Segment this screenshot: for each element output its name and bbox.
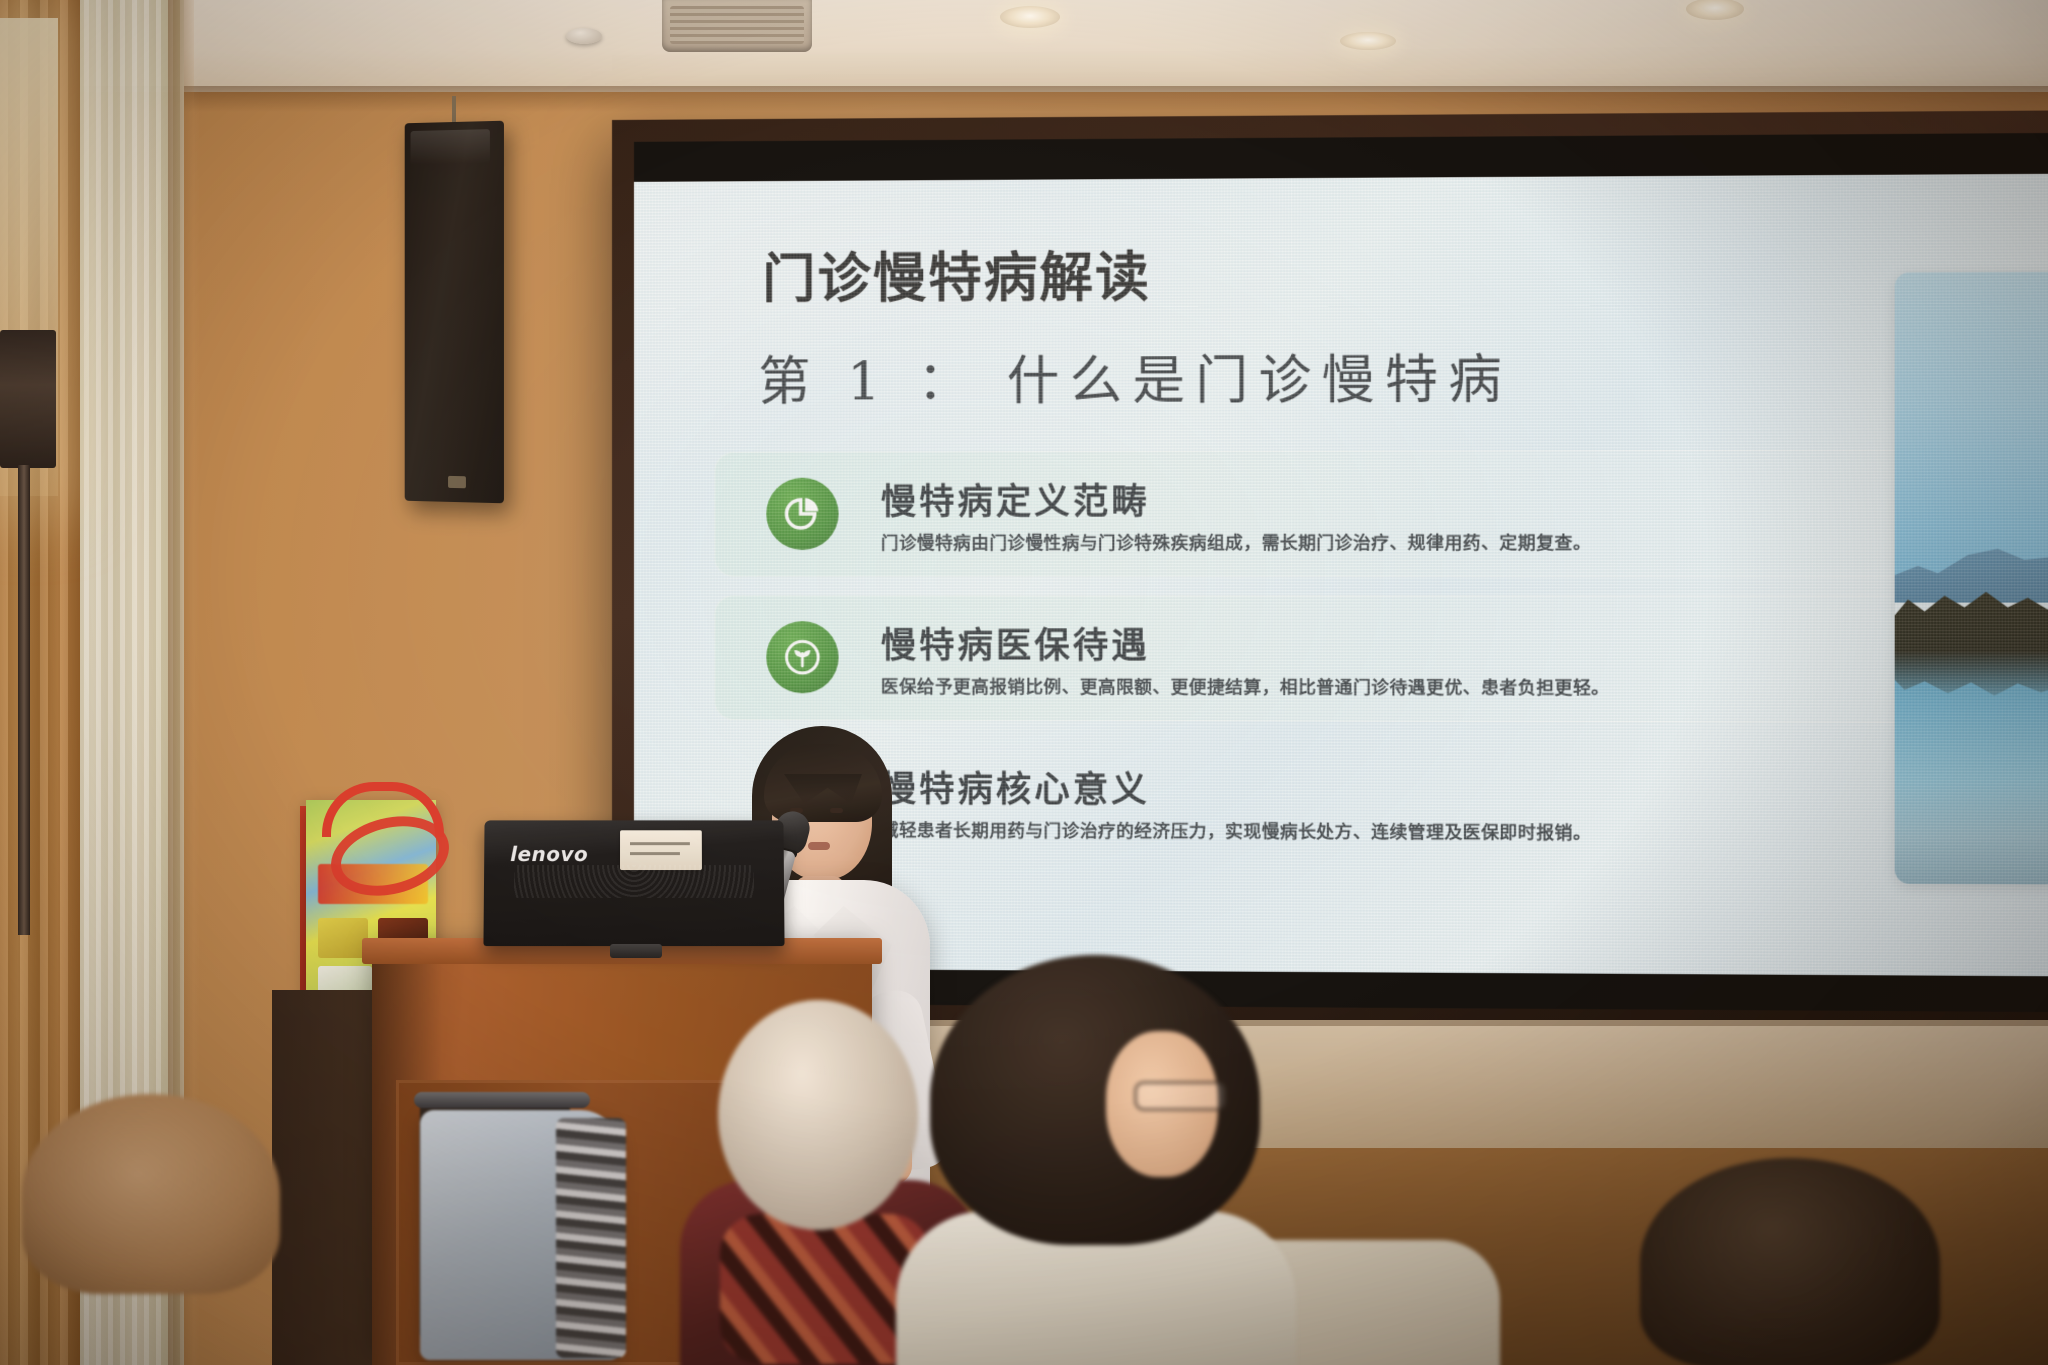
slide-card-title: 慢特病定义范畴 bbox=[881, 473, 1150, 525]
monitor-stand bbox=[610, 944, 662, 958]
shopping-bag-photo bbox=[318, 918, 368, 958]
ceiling-downlight bbox=[1000, 6, 1060, 28]
photo-sky bbox=[1895, 272, 2048, 603]
slide-card-title: 慢特病医保待遇 bbox=[881, 617, 1150, 669]
wall-speaker bbox=[405, 121, 504, 504]
slide-card-description: 减轻患者长期用药与门诊治疗的经济压力，实现慢病长处方、连续管理及医保即时报销。 bbox=[881, 817, 1591, 845]
slide-card-description: 医保给予更高报销比例、更高限额、更便捷结算，相比普通门诊待遇更优、患者负担更轻。 bbox=[881, 673, 1610, 699]
eyeglasses-icon bbox=[1134, 1081, 1226, 1111]
lenovo-monitor: lenovo bbox=[483, 820, 784, 946]
speaker-cable bbox=[452, 96, 456, 124]
ceiling-downlight bbox=[1340, 32, 1396, 50]
presenter-mouth bbox=[808, 842, 830, 850]
ceiling-shadow bbox=[0, 86, 2048, 112]
smoke-detector-icon bbox=[566, 28, 602, 44]
pie-chart-icon bbox=[766, 478, 838, 550]
lenovo-logo: lenovo bbox=[510, 842, 588, 866]
audience-head bbox=[718, 1000, 918, 1230]
slide-title: 门诊慢特病解读 bbox=[762, 235, 1151, 313]
audience-member bbox=[930, 955, 1260, 1365]
sprout-leaf-icon bbox=[766, 621, 838, 693]
chair-rail bbox=[414, 1092, 590, 1108]
audience-hair bbox=[1640, 1158, 1940, 1365]
wall-sconce-fixture bbox=[0, 330, 56, 468]
slide-card: 慢特病定义范畴 门诊慢特病由门诊慢性病与门诊特殊疾病组成，需长期门诊治疗、规律用… bbox=[714, 450, 1943, 577]
asset-tag-label bbox=[620, 830, 702, 870]
ceiling-air-vent bbox=[662, 0, 812, 52]
slide-card-description: 门诊慢特病由门诊慢性病与门诊特殊疾病组成，需长期门诊治疗、规律用药、定期复查。 bbox=[881, 529, 1591, 555]
audience-member bbox=[16, 1100, 286, 1365]
striped-fabric bbox=[556, 1118, 626, 1358]
audience-hair bbox=[22, 1094, 280, 1294]
presenter-eye bbox=[830, 808, 843, 813]
sconce-post bbox=[18, 465, 30, 935]
photo-water bbox=[1895, 651, 2048, 884]
slide-subtitle: 第 1 ： 什么是门诊慢特病 bbox=[758, 337, 1512, 415]
landscape-lake-mountains-photo bbox=[1895, 272, 2048, 885]
audience-member bbox=[1640, 1158, 1940, 1365]
speaker-logo-icon bbox=[448, 476, 466, 488]
presentation-room-photo: 门诊慢特病解读 第 1 ： 什么是门诊慢特病 慢特病定义范畴 门诊慢特病由门诊慢… bbox=[0, 0, 2048, 1365]
